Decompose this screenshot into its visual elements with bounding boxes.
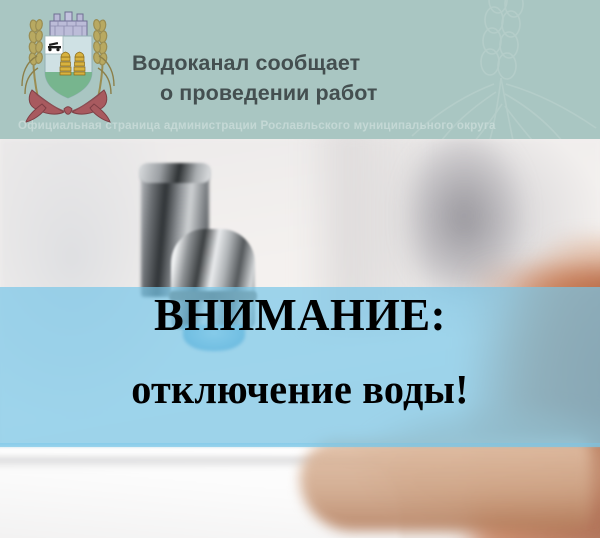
faucet-body-top bbox=[139, 163, 211, 183]
alert-subheading: отключение воды! bbox=[6, 365, 594, 413]
header-banner: Водоканал сообщает о проведении работ Оф… bbox=[0, 0, 600, 139]
header-title-line-2: о проведении работ bbox=[132, 78, 462, 108]
header-title-line-1: Водоканал сообщает bbox=[132, 48, 462, 78]
faucet-photo: ВНИМАНИЕ: отключение воды! bbox=[0, 139, 600, 538]
header-subtitle: Официальная страница администрации Росла… bbox=[18, 119, 583, 132]
announcement-poster: Водоканал сообщает о проведении работ Оф… bbox=[0, 0, 600, 538]
blue-overlay-band-fade bbox=[0, 443, 600, 449]
finger-shape bbox=[300, 439, 590, 531]
alert-heading: ВНИМАНИЕ: bbox=[9, 289, 591, 341]
coat-of-arms-icon bbox=[12, 4, 124, 128]
alert-text-group: ВНИМАНИЕ: отключение воды! bbox=[0, 289, 600, 413]
header-title-group: Водоканал сообщает о проведении работ bbox=[132, 48, 462, 108]
